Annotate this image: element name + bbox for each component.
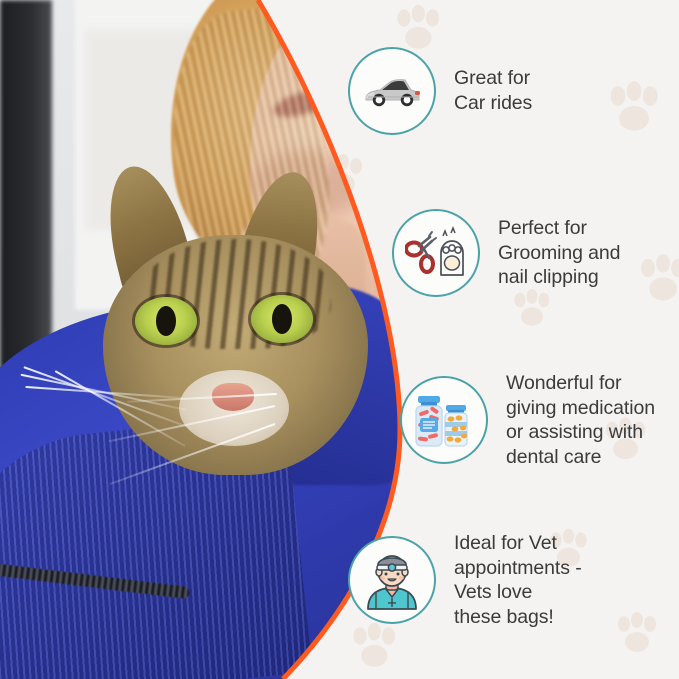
medicine-bottles-icon <box>412 390 476 450</box>
feature-list: Great for Car rides <box>330 0 679 679</box>
nail-clipper-paw-icon <box>405 225 467 281</box>
product-feature-infographic: Great for Car rides <box>0 0 679 679</box>
feature-icon-circle <box>400 376 488 464</box>
feature-text: Wonderful for giving medication or assis… <box>506 371 655 469</box>
feature-item-car-rides[interactable]: Great for Car rides <box>348 47 532 135</box>
feature-icon-circle <box>392 209 480 297</box>
feature-text: Great for Car rides <box>454 66 532 115</box>
feature-icon-circle <box>348 536 436 624</box>
feature-item-grooming[interactable]: Perfect for Grooming and nail clipping <box>392 209 620 297</box>
feature-item-vet-appointments[interactable]: Ideal for Vet appointments - Vets love t… <box>348 531 582 629</box>
feature-text: Perfect for Grooming and nail clipping <box>498 216 620 290</box>
feature-item-medication[interactable]: Wonderful for giving medication or assis… <box>400 371 655 469</box>
feature-icon-circle <box>348 47 436 135</box>
car-icon <box>360 71 424 111</box>
veterinarian-icon <box>361 549 423 611</box>
feature-text: Ideal for Vet appointments - Vets love t… <box>454 531 582 629</box>
